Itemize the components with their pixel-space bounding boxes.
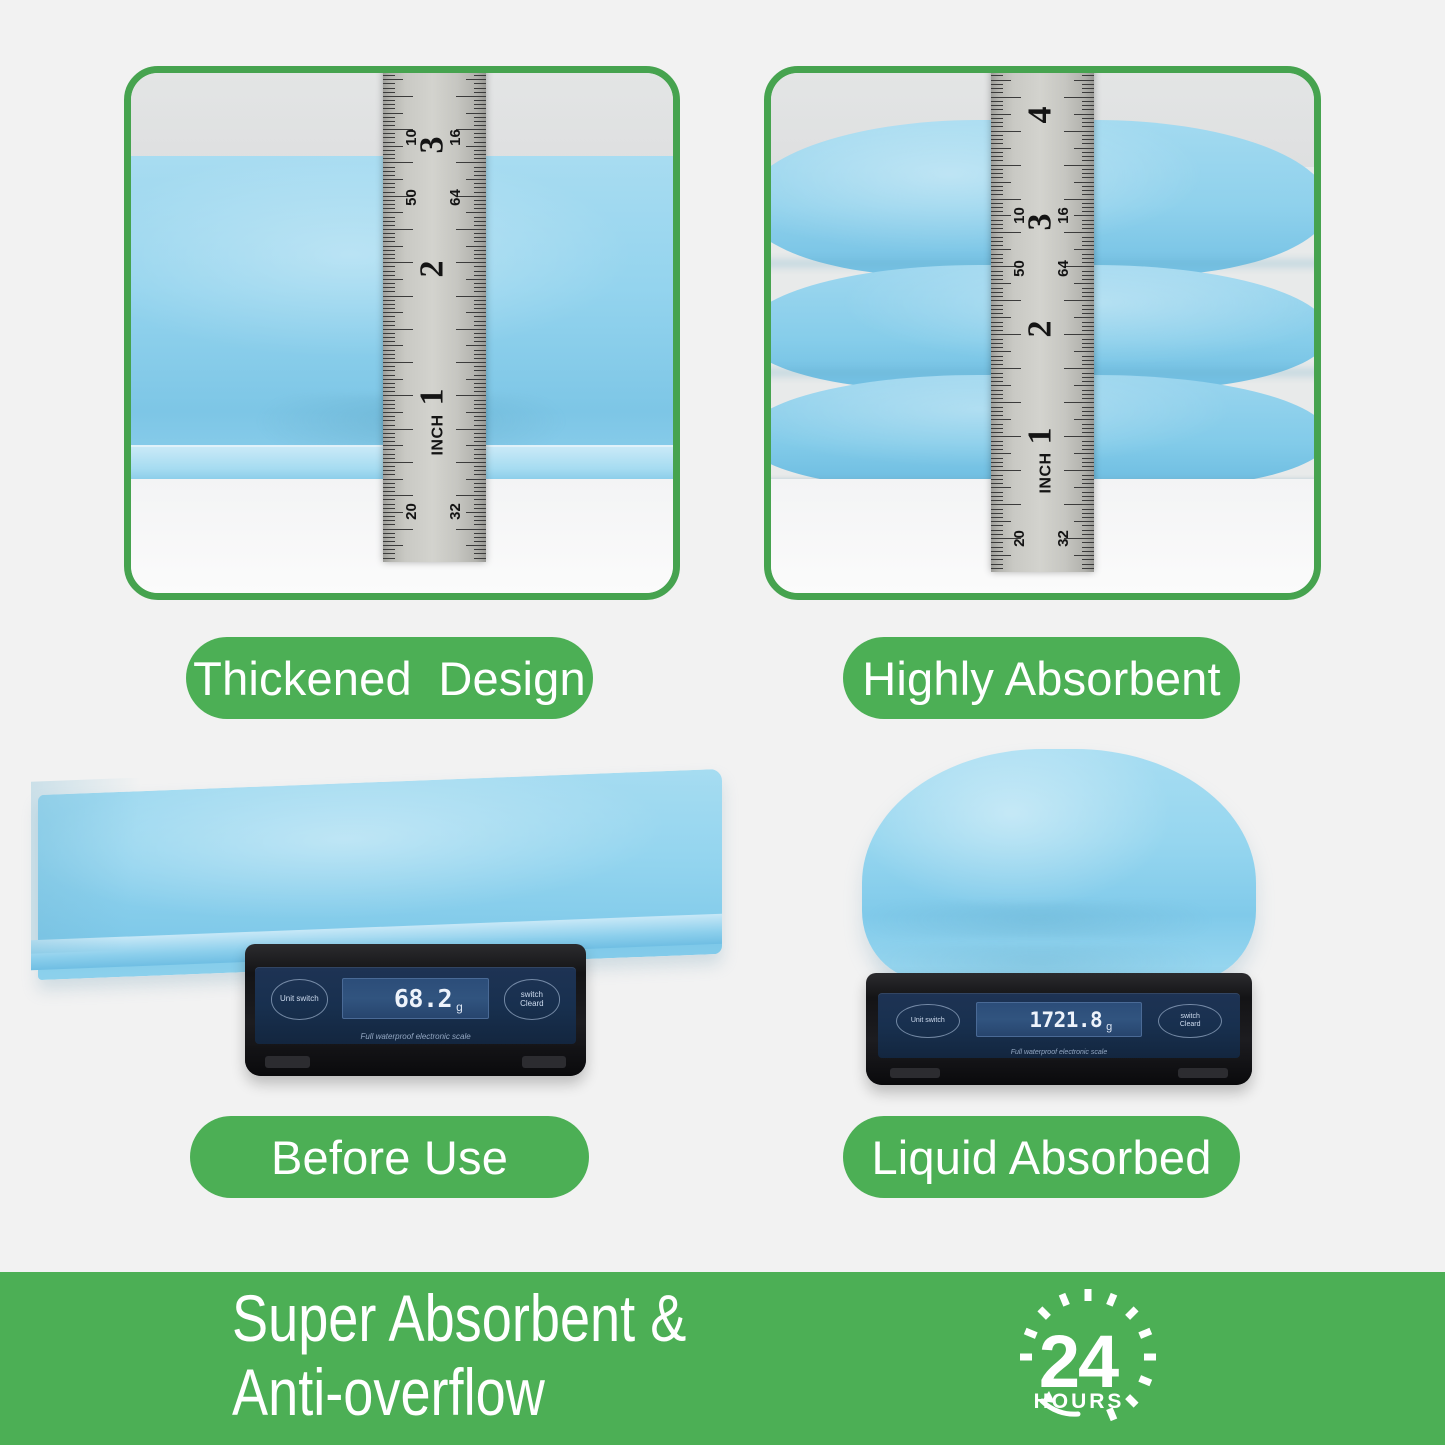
ruler-ticks-metric <box>383 73 414 562</box>
ruler-metric-mark-10: 10 <box>403 129 418 146</box>
scale-clear-label-line2: Cleard <box>520 1000 544 1008</box>
ruler-imperial-mark-64: 64 <box>1056 261 1071 278</box>
scale-clear-label-line1: switch <box>1180 1013 1199 1020</box>
ruler-inch-mark-1: 1 <box>416 388 450 405</box>
scale-clear-button[interactable]: switch Cleard <box>1158 1004 1222 1038</box>
dry-pad-on-scale-photo: Unit switch 68.2 g switch Cleard Full wa… <box>24 762 736 1092</box>
24-hours-clock-icon: 24 HOURS <box>1000 1283 1180 1433</box>
label-thickened-design: Thickened Design <box>186 637 593 719</box>
scale-brand-text: Full waterproof electronic scale <box>255 1032 576 1041</box>
ruler-inch-mark-4: 4 <box>1024 107 1058 124</box>
steel-ruler-left: INCH 1 2 3 20 50 10 32 64 16 <box>383 73 486 562</box>
scale-reading-unit: g <box>456 1000 463 1014</box>
ruler-metric-mark-50: 50 <box>403 189 418 206</box>
ruler-unit-label: INCH <box>1039 453 1055 494</box>
label-liquid-absorbed-text: Liquid Absorbed <box>871 1130 1211 1185</box>
digital-scale-before: Unit switch 68.2 g switch Cleard Full wa… <box>245 944 587 1076</box>
scale-reading-unit: g <box>1106 1021 1112 1033</box>
ruler-imperial-mark-32: 32 <box>448 504 463 521</box>
ruler-imperial-mark-64: 64 <box>448 189 463 206</box>
scale-unit-switch-label: Unit switch <box>280 995 319 1003</box>
ruler-inch-mark-3: 3 <box>416 136 450 153</box>
swollen-pad-ruler-photo: INCH 1 2 3 4 20 50 10 32 64 16 <box>771 73 1314 593</box>
label-highly-absorbent: Highly Absorbent <box>843 637 1240 719</box>
photo-frame-thickened-design: INCH 1 2 3 20 50 10 32 64 16 <box>124 66 680 600</box>
label-thickened-design-text: Thickened Design <box>193 651 586 706</box>
ruler-inch-mark-3: 3 <box>1024 214 1058 231</box>
ruler-metric-mark-50: 50 <box>1011 261 1026 278</box>
ruler-metric-mark-20: 20 <box>403 504 418 521</box>
ruler-metric-mark-10: 10 <box>1011 207 1026 224</box>
label-before-use-text: Before Use <box>271 1130 508 1185</box>
pad-thickness-ruler-photo: INCH 1 2 3 20 50 10 32 64 16 <box>131 73 673 593</box>
ruler-ticks-imperial <box>1063 73 1094 572</box>
ruler-unit-label: INCH <box>431 414 447 455</box>
scale-lcd-display: 68.2 g <box>342 978 490 1019</box>
wet-pad-on-scale-photo: Unit switch 1721.8 g switch Cleard Full … <box>845 742 1273 1092</box>
scale-foot-right <box>1178 1068 1228 1078</box>
scale-foot-left <box>265 1056 309 1068</box>
ruler-inch-mark-2: 2 <box>1024 321 1058 338</box>
ruler-metric-mark-20: 20 <box>1011 531 1026 548</box>
scale-control-panel: Unit switch 1721.8 g switch Cleard Full … <box>878 993 1240 1058</box>
banner-headline: Super Absorbent & Anti-overflow <box>232 1282 686 1430</box>
photo-frame-highly-absorbent: INCH 1 2 3 4 20 50 10 32 64 16 <box>764 66 1321 600</box>
ruler-imperial-mark-16: 16 <box>1056 207 1071 224</box>
infographic-canvas: INCH 1 2 3 20 50 10 32 64 16 <box>0 0 1445 1445</box>
scale-foot-right <box>522 1056 566 1068</box>
svg-text:HOURS: HOURS <box>1034 1390 1125 1413</box>
scale-lcd-display: 1721.8 g <box>976 1002 1143 1037</box>
scale-foot-left <box>890 1068 940 1078</box>
scale-control-panel: Unit switch 68.2 g switch Cleard Full wa… <box>255 967 576 1044</box>
ruler-inch-mark-2: 2 <box>416 261 450 278</box>
scale-reading-value: 1721.8 <box>1029 1008 1102 1032</box>
saturated-pad-fold-1 <box>858 903 1260 938</box>
label-before-use: Before Use <box>190 1116 589 1198</box>
dry-pad-fold <box>31 776 173 953</box>
steel-ruler-right: INCH 1 2 3 4 20 50 10 32 64 16 <box>991 73 1094 572</box>
scale-clear-label-line2: Cleard <box>1180 1021 1201 1028</box>
ruler-inch-mark-1: 1 <box>1024 428 1058 445</box>
scale-unit-switch-button[interactable]: Unit switch <box>896 1004 960 1038</box>
scale-unit-switch-label: Unit switch <box>911 1017 945 1024</box>
scale-unit-switch-button[interactable]: Unit switch <box>271 979 328 1019</box>
digital-scale-liquid: Unit switch 1721.8 g switch Cleard Full … <box>866 973 1251 1085</box>
ruler-imperial-mark-32: 32 <box>1056 531 1071 548</box>
bottom-banner: Super Absorbent & Anti-overflow <box>0 1272 1445 1445</box>
ruler-imperial-mark-16: 16 <box>448 129 463 146</box>
scale-clear-button[interactable]: switch Cleard <box>504 979 561 1019</box>
scale-brand-text: Full waterproof electronic scale <box>878 1049 1240 1056</box>
label-highly-absorbent-text: Highly Absorbent <box>862 651 1221 706</box>
label-liquid-absorbed: Liquid Absorbed <box>843 1116 1240 1198</box>
ruler-ticks-metric <box>991 73 1022 572</box>
ruler-ticks-imperial <box>455 73 486 562</box>
scale-reading-value: 68.2 <box>394 984 452 1013</box>
pad-crease <box>185 395 575 447</box>
